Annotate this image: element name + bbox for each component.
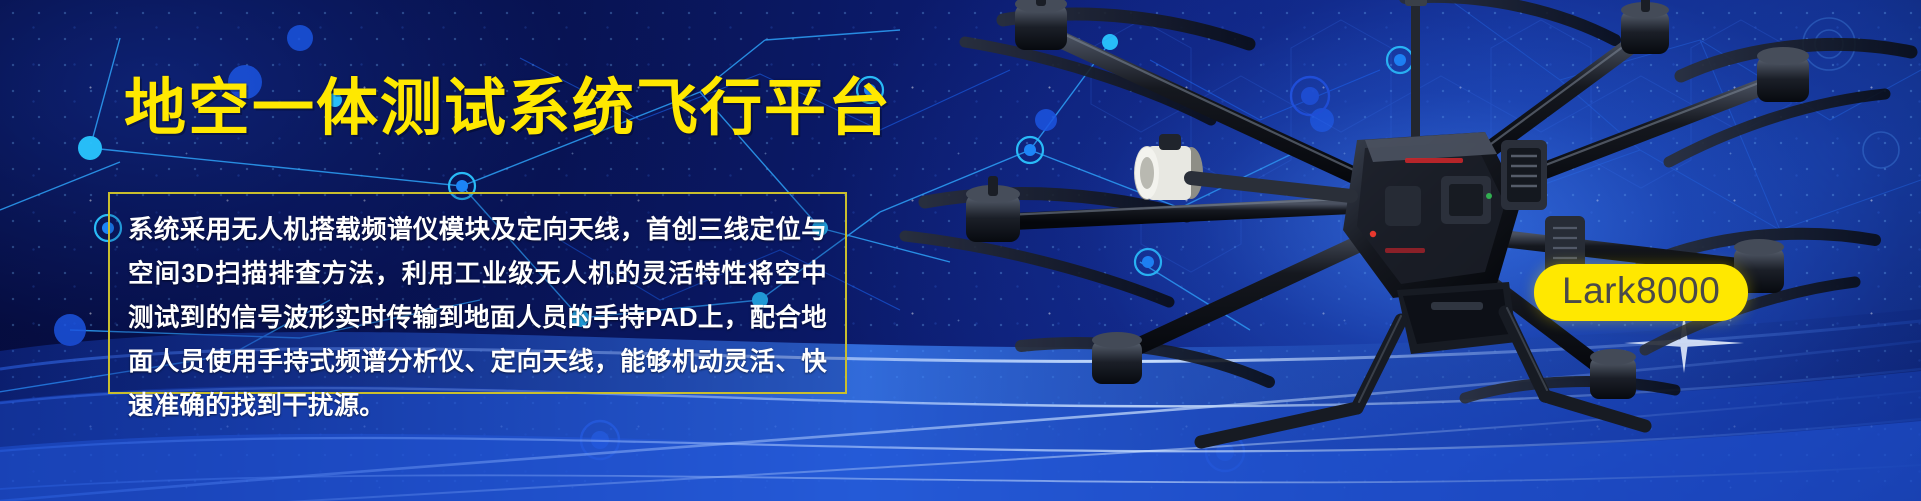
drone-image (845, 0, 1921, 460)
page-title: 地空一体测试系统飞行平台 (124, 78, 892, 140)
status-badge: Lark8000 (1534, 264, 1748, 321)
description-text: 系统采用无人机搭载频谱仪模块及定向天线，首创三线定位与空间3D扫描排查方法，利用… (128, 208, 827, 428)
description-box: 系统采用无人机搭载频谱仪模块及定向天线，首创三线定位与空间3D扫描排查方法，利用… (108, 192, 847, 394)
product-banner: 地空一体测试系统飞行平台 系统采用无人机搭载频谱仪模块及定向天线，首创三线定位与… (0, 0, 1921, 501)
